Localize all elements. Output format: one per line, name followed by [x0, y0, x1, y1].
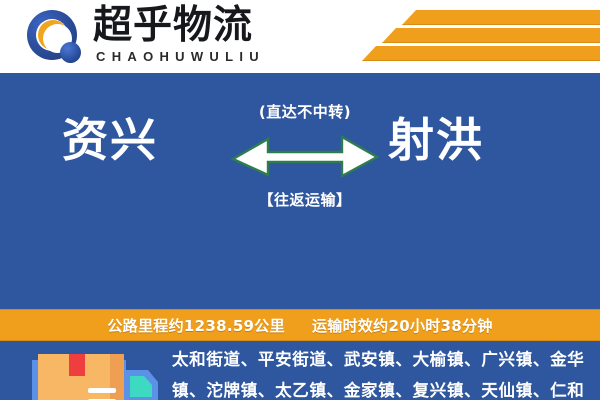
distance-label: 公路里程约1238.59公里: [107, 317, 285, 335]
route-info-bar: 公路里程约1238.59公里 运输时效约20小时38分钟: [0, 309, 600, 341]
header: 超乎物流 CHAOHUWULIU: [0, 0, 600, 73]
coverage-section: 太和街道、平安街道、武安镇、大榆镇、广兴镇、金华镇、沱牌镇、太乙镇、金家镇、复兴…: [0, 340, 600, 400]
company-logo-icon: [27, 10, 83, 66]
route-info-text: 公路里程约1238.59公里 运输时效约20小时38分钟: [107, 315, 492, 336]
round-trip-note: 【往返运输】: [230, 189, 380, 210]
direct-service-note: (直达不中转): [230, 101, 380, 122]
route-arrow-group: (直达不中转) 【往返运输】: [230, 99, 380, 219]
chevron-stripe-2: [382, 28, 600, 43]
chevron-stripes-icon: [340, 8, 600, 66]
delivery-truck-icon: [30, 352, 160, 400]
origin-city-label: 资兴: [62, 112, 158, 168]
brand-name-pinyin: CHAOHUWULIU: [96, 49, 265, 64]
covered-towns-list: 太和街道、平安街道、武安镇、大榆镇、广兴镇、金华镇、沱牌镇、太乙镇、金家镇、复兴…: [172, 344, 584, 400]
body-panel: 资兴 (直达不中转) 【往返运输】 射洪 公路里程约1238.59公里 运输时效…: [0, 73, 600, 400]
route-section: 资兴 (直达不中转) 【往返运输】 射洪: [0, 73, 600, 236]
chevron-stripe-1: [402, 10, 600, 25]
brand-name-chinese: 超乎物流: [93, 3, 253, 49]
duration-label: 运输时效约20小时38分钟: [312, 317, 493, 335]
chevron-stripe-3: [362, 46, 600, 61]
logistics-route-poster: 超乎物流 CHAOHUWULIU 资兴 (直达不中转) 【往返运输】 射洪: [0, 0, 600, 400]
logo-accent-dot-shape: [60, 42, 81, 63]
double-headed-arrow-icon: [230, 131, 380, 181]
destination-city-label: 射洪: [388, 112, 484, 168]
